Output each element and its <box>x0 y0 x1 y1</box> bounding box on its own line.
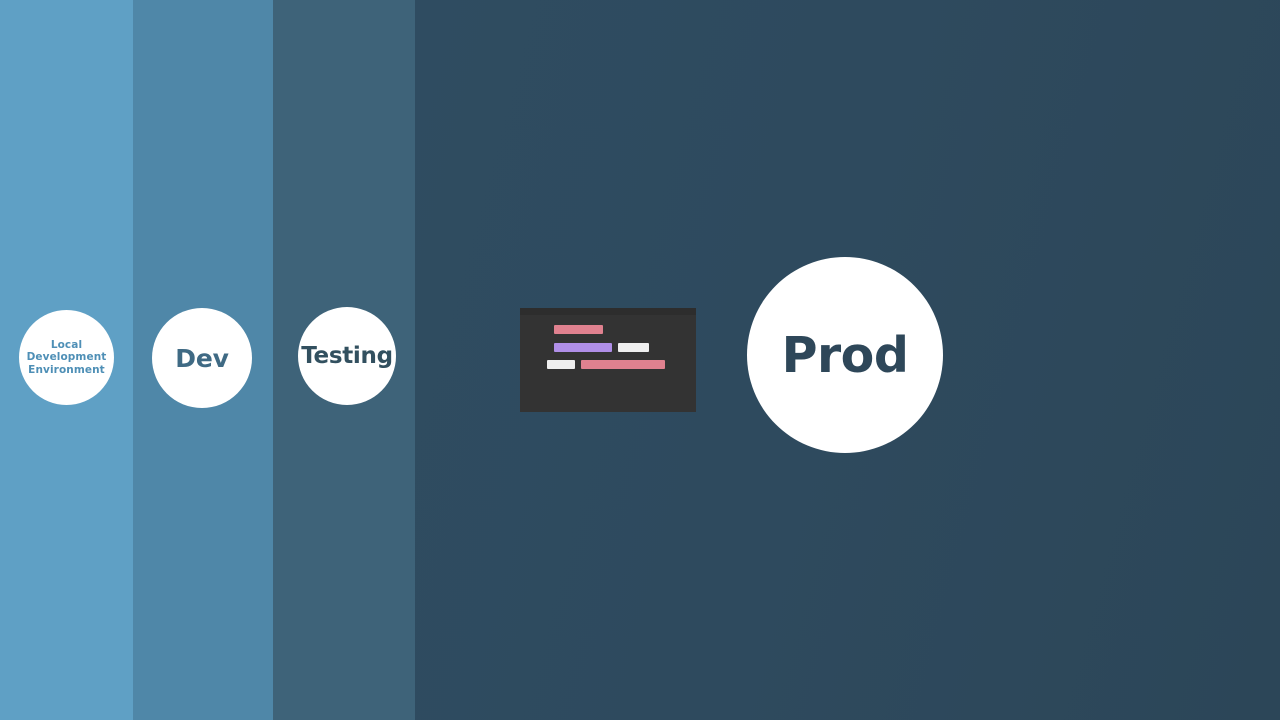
stage-node-prod-label: Prod <box>782 327 909 384</box>
stage-node-local-label-line2: Development <box>27 351 107 363</box>
code-editor-body <box>520 315 696 412</box>
code-editor-titlebar <box>520 308 696 315</box>
code-token-1-1 <box>554 325 603 334</box>
code-editor-window[interactable] <box>520 308 696 412</box>
code-token-3-2 <box>581 360 665 369</box>
stage-node-dev-label: Dev <box>175 344 228 373</box>
stage-node-local-label: LocalDevelopmentEnvironment <box>27 339 107 377</box>
stage-node-testing[interactable]: Testing <box>298 307 396 405</box>
code-line-1 <box>520 325 696 334</box>
stage-node-testing-label: Testing <box>301 343 393 369</box>
stage-node-local-development-environment[interactable]: LocalDevelopmentEnvironment <box>19 310 114 405</box>
code-token-3-1 <box>547 360 575 369</box>
code-token-2-2 <box>618 343 649 352</box>
stage-node-prod[interactable]: Prod <box>747 257 943 453</box>
code-token-2-1 <box>554 343 612 352</box>
stage-node-local-label-line1: Local <box>51 339 82 351</box>
stage-node-dev[interactable]: Dev <box>152 308 252 408</box>
pipeline-scene: LocalDevelopmentEnvironment Dev Testing … <box>0 0 1280 720</box>
stage-node-local-label-line3: Environment <box>28 364 105 376</box>
code-line-2 <box>520 343 696 352</box>
code-line-3 <box>520 360 696 369</box>
